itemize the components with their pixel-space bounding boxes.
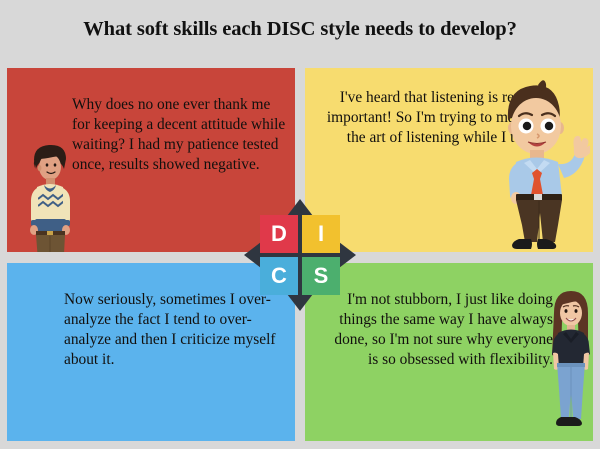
disc-model-badge: D I C S [260, 215, 340, 295]
disc-letter-s[interactable]: S [302, 257, 340, 295]
disc-letter-d[interactable]: D [260, 215, 298, 253]
disc-infographic: What soft skills each DISC style needs t… [0, 0, 600, 449]
disc-letter-i[interactable]: I [302, 215, 340, 253]
character-woman-jeans [545, 283, 597, 435]
disc-letter-c[interactable]: C [260, 257, 298, 295]
character-man-sweater [18, 140, 80, 252]
character-man-waving [490, 76, 590, 252]
quote-text-d: Why does no one ever thank me for keepin… [72, 95, 287, 175]
page-title: What soft skills each DISC style needs t… [0, 18, 600, 41]
